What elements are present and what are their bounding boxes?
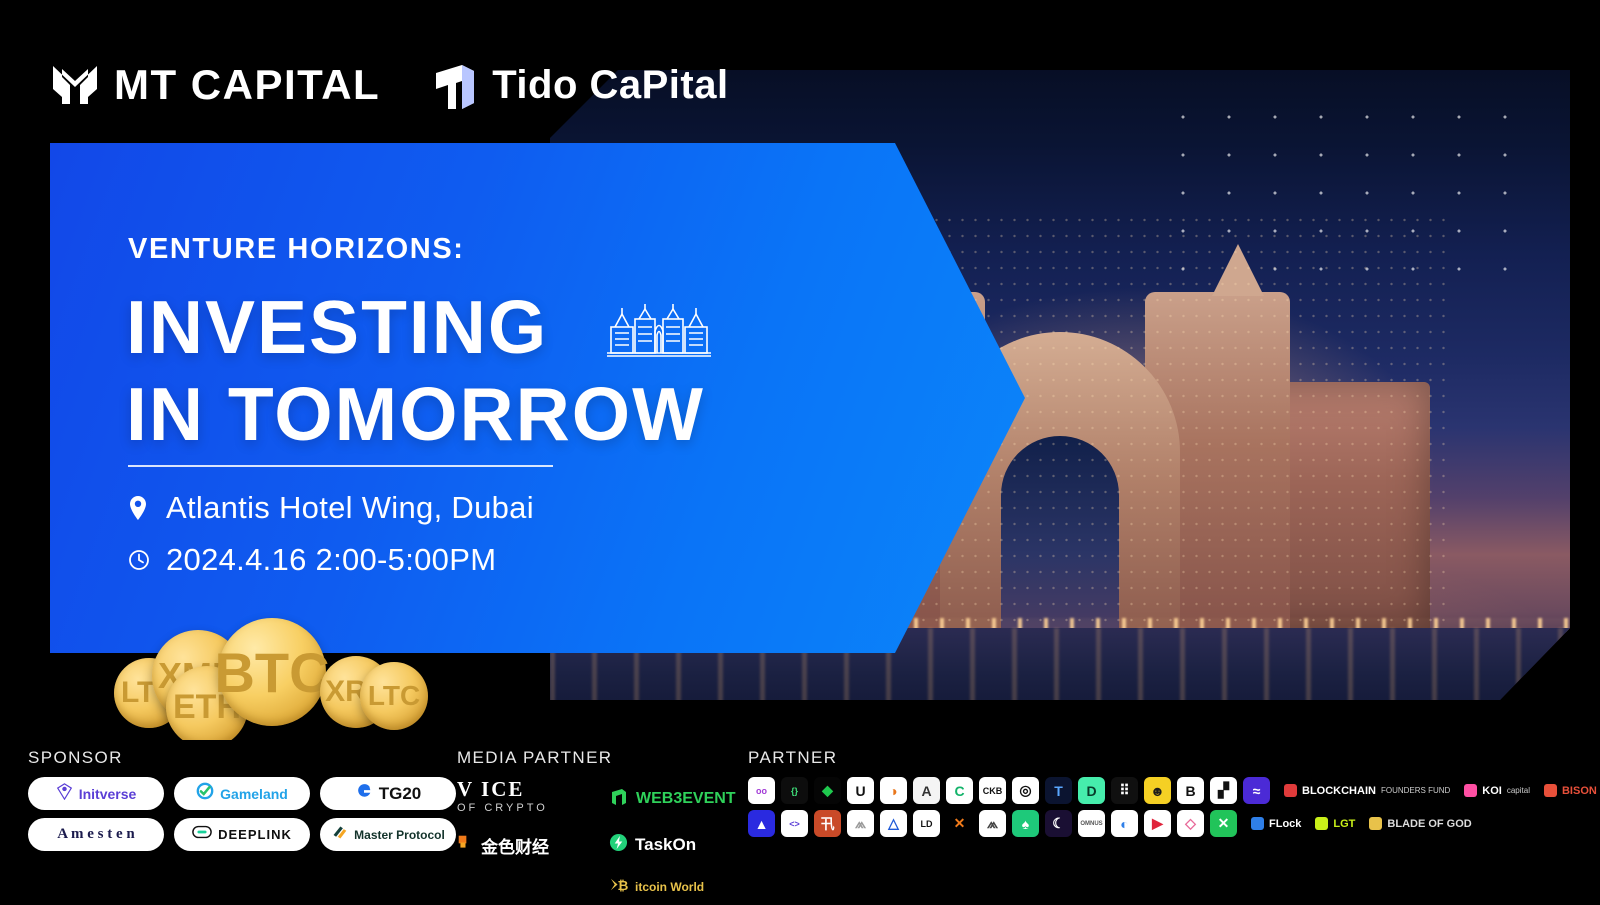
sponsor-initverse-label: Initverse <box>79 786 137 802</box>
partner-textlogo-r1-1[interactable]: KOIcapital <box>1464 777 1530 804</box>
partner-logo-grid: oo{}◆U◑ACCKB◎TD⠿☻B▞≈BLOCKCHAINFOUNDERS F… <box>748 777 1600 837</box>
media-bitcoin-world-label: itcoin World <box>635 880 704 894</box>
partner-icon-r2-4[interactable]: △ <box>880 810 907 837</box>
media-partner-column: MEDIA PARTNER V ICE OF CRYPTO WEB3EVENT … <box>457 748 749 905</box>
event-location-text: Atlantis Hotel Wing, Dubai <box>166 490 534 526</box>
sponsor-amesten[interactable]: A m e s t e n <box>28 818 164 851</box>
partner-icon-r1-3[interactable]: U <box>847 777 874 804</box>
partner-icon-r1-6[interactable]: C <box>946 777 973 804</box>
partner-icon-r1-15[interactable]: ≈ <box>1243 777 1270 804</box>
gameland-check-icon <box>196 782 214 805</box>
sponsor-tg20-label: TG20 <box>379 784 422 804</box>
media-voice-of-crypto[interactable]: V ICE OF CRYPTO <box>457 777 597 821</box>
bitcoin-world-icon: ₿ <box>609 875 628 899</box>
partner-textlogo-sublabel: FOUNDERS FUND <box>1381 786 1450 795</box>
partner-icon-r1-13[interactable]: B <box>1177 777 1204 804</box>
partner-textlogo-label: KOI <box>1482 785 1502 797</box>
partner-icon-r1-1[interactable]: {} <box>781 777 808 804</box>
partner-textlogo-mark-icon <box>1464 784 1477 797</box>
tido-capital-mark-icon <box>432 61 478 109</box>
media-voice-sub: OF CRYPTO <box>457 802 548 814</box>
clock-icon <box>128 547 150 573</box>
partner-icon-r2-3[interactable]: ⩕ <box>847 810 874 837</box>
partner-title: PARTNER <box>748 748 1600 768</box>
media-voice-label: V ICE <box>457 777 524 802</box>
location-pin-icon <box>128 495 150 521</box>
partner-icon-r1-8[interactable]: ◎ <box>1012 777 1039 804</box>
coin-ltc-2: LTC <box>360 662 428 730</box>
partner-icon-r2-13[interactable]: ◇ <box>1177 810 1204 837</box>
partner-textlogo-mark-icon <box>1251 817 1264 830</box>
initverse-icon <box>56 783 73 805</box>
media-partner-logo-grid: V ICE OF CRYPTO WEB3EVENT 金色财经 TaskOn <box>457 777 749 905</box>
sponsor-logo-grid: Initverse Gameland TG20 A m e s t e n <box>28 777 456 851</box>
partner-column: PARTNER oo{}◆U◑ACCKB◎TD⠿☻B▞≈BLOCKCHAINFO… <box>748 748 1600 837</box>
event-time-text: 2024.4.16 2:00-5:00PM <box>166 542 496 578</box>
partner-icon-r1-5[interactable]: A <box>913 777 940 804</box>
sponsor-gameland[interactable]: Gameland <box>174 777 310 810</box>
sponsor-amesten-label: A m e s t e n <box>57 826 135 843</box>
mt-capital-mark-icon <box>50 63 100 107</box>
atlantis-hotel-line-icon <box>605 303 713 364</box>
partner-textlogo-label: BISON VC FUND <box>1562 785 1600 797</box>
hero-title-line1: INVESTING <box>126 285 548 369</box>
media-web3event[interactable]: WEB3EVENT <box>609 781 749 817</box>
partner-icon-r2-10[interactable]: OMNUS <box>1078 810 1105 837</box>
partner-textlogo-r1-2[interactable]: BISON VC FUND <box>1544 777 1600 804</box>
partner-textlogo-r2-2[interactable]: BLADE OF GOD <box>1369 810 1471 837</box>
hero-kicker: VENTURE HORIZONS: <box>128 233 465 266</box>
partner-row-2: ▲<>卂⩕△LD✕⩕♠☾OMNUS◐▶◇✕FLockLGTBLADE OF GO… <box>748 810 1600 837</box>
partner-textlogo-label: FLock <box>1269 818 1301 830</box>
partner-icon-r1-9[interactable]: T <box>1045 777 1072 804</box>
mt-capital-wordmark: MT CAPITAL <box>114 61 380 109</box>
sponsor-tg20[interactable]: TG20 <box>320 777 456 810</box>
media-taskon-label: TaskOn <box>635 835 696 855</box>
sponsor-master-protocol[interactable]: Master Protocol <box>320 818 456 851</box>
partner-icon-r2-9[interactable]: ☾ <box>1045 810 1072 837</box>
mt-capital-logo: MT CAPITAL <box>50 61 380 109</box>
partner-icon-r1-14[interactable]: ▞ <box>1210 777 1237 804</box>
event-location-row: Atlantis Hotel Wing, Dubai <box>128 490 534 526</box>
partner-row-1: oo{}◆U◑ACCKB◎TD⠿☻B▞≈BLOCKCHAINFOUNDERS F… <box>748 777 1600 804</box>
master-protocol-icon <box>331 824 348 846</box>
media-jinse-label: 金色财经 <box>481 833 549 858</box>
partner-icon-r1-0[interactable]: oo <box>748 777 775 804</box>
sponsor-deeplink-label: DEEPLINK <box>218 827 292 842</box>
sponsor-deeplink[interactable]: DEEPLINK <box>174 818 310 851</box>
tido-capital-wordmark: Tido CaPital <box>492 63 728 108</box>
sponsor-column: SPONSOR Initverse Gameland TG20 <box>28 748 456 851</box>
partner-icon-r2-2[interactable]: 卂 <box>814 810 841 837</box>
partner-textlogo-r2-1[interactable]: LGT <box>1315 810 1355 837</box>
partner-textlogo-mark-icon <box>1544 784 1557 797</box>
media-web3event-label: WEB3EVENT <box>636 790 736 808</box>
partner-textlogo-label: BLADE OF GOD <box>1387 818 1471 830</box>
coin-btc: BTC <box>218 618 326 726</box>
partner-icon-r2-1[interactable]: <> <box>781 810 808 837</box>
tido-capital-logo: Tido CaPital <box>432 61 728 109</box>
partner-icon-r1-10[interactable]: D <box>1078 777 1105 804</box>
partner-textlogo-sublabel: capital <box>1507 786 1530 795</box>
partner-icon-r2-12[interactable]: ▶ <box>1144 810 1171 837</box>
media-partner-title: MEDIA PARTNER <box>457 748 749 768</box>
sponsor-gameland-label: Gameland <box>220 786 288 802</box>
media-taskon[interactable]: TaskOn <box>609 827 749 863</box>
media-jinse-finance[interactable]: 金色财经 <box>457 827 597 863</box>
partner-icon-r2-14[interactable]: ✕ <box>1210 810 1237 837</box>
partner-textlogo-r1-0[interactable]: BLOCKCHAINFOUNDERS FUND <box>1284 777 1450 804</box>
partner-icon-r2-11[interactable]: ◐ <box>1111 810 1138 837</box>
hero-divider <box>128 465 553 467</box>
tg20-icon <box>355 782 373 805</box>
brand-logo-bar: MT CAPITAL Tido CaPital <box>50 50 729 120</box>
partner-textlogo-mark-icon <box>1369 817 1382 830</box>
svg-text:₿: ₿ <box>618 878 628 893</box>
partner-icon-r2-6[interactable]: ✕ <box>946 810 973 837</box>
event-time-row: 2024.4.16 2:00-5:00PM <box>128 542 534 578</box>
partner-textlogo-label: LGT <box>1333 818 1355 830</box>
partner-textlogo-mark-icon <box>1315 817 1328 830</box>
jinse-finance-icon <box>457 834 474 856</box>
partner-icon-r1-11[interactable]: ⠿ <box>1111 777 1138 804</box>
partner-icon-r1-2[interactable]: ◆ <box>814 777 841 804</box>
sponsor-title: SPONSOR <box>28 748 456 768</box>
hero-title-line2: IN TOMORROW <box>126 377 705 452</box>
event-meta: Atlantis Hotel Wing, Dubai 2024.4.16 2:0… <box>128 490 534 594</box>
partner-icon-r2-5[interactable]: LD <box>913 810 940 837</box>
web3event-icon <box>609 787 629 812</box>
deeplink-icon <box>192 825 212 844</box>
partner-textlogo-r2-0[interactable]: FLock <box>1251 810 1301 837</box>
event-poster-card: MT CAPITAL Tido CaPital VENTURE HORIZONS… <box>30 28 1570 740</box>
partner-icon-r2-8[interactable]: ♠ <box>1012 810 1039 837</box>
partner-icon-r1-4[interactable]: ◑ <box>880 777 907 804</box>
partner-textlogo-mark-icon <box>1284 784 1297 797</box>
partner-textlogo-label: BLOCKCHAIN <box>1302 785 1376 797</box>
partner-icon-r1-12[interactable]: ☻ <box>1144 777 1171 804</box>
footer-partners: SPONSOR Initverse Gameland TG20 <box>0 748 1600 900</box>
sponsor-master-protocol-label: Master Protocol <box>354 828 445 842</box>
partner-icon-r1-7[interactable]: CKB <box>979 777 1006 804</box>
taskon-icon <box>609 833 628 857</box>
crypto-coins-illustration: LTC XMR ETH BTC XRP LTC <box>108 608 438 723</box>
sponsor-initverse[interactable]: Initverse <box>28 777 164 810</box>
partner-icon-r2-0[interactable]: ▲ <box>748 810 775 837</box>
partner-icon-r2-7[interactable]: ⩕ <box>979 810 1006 837</box>
